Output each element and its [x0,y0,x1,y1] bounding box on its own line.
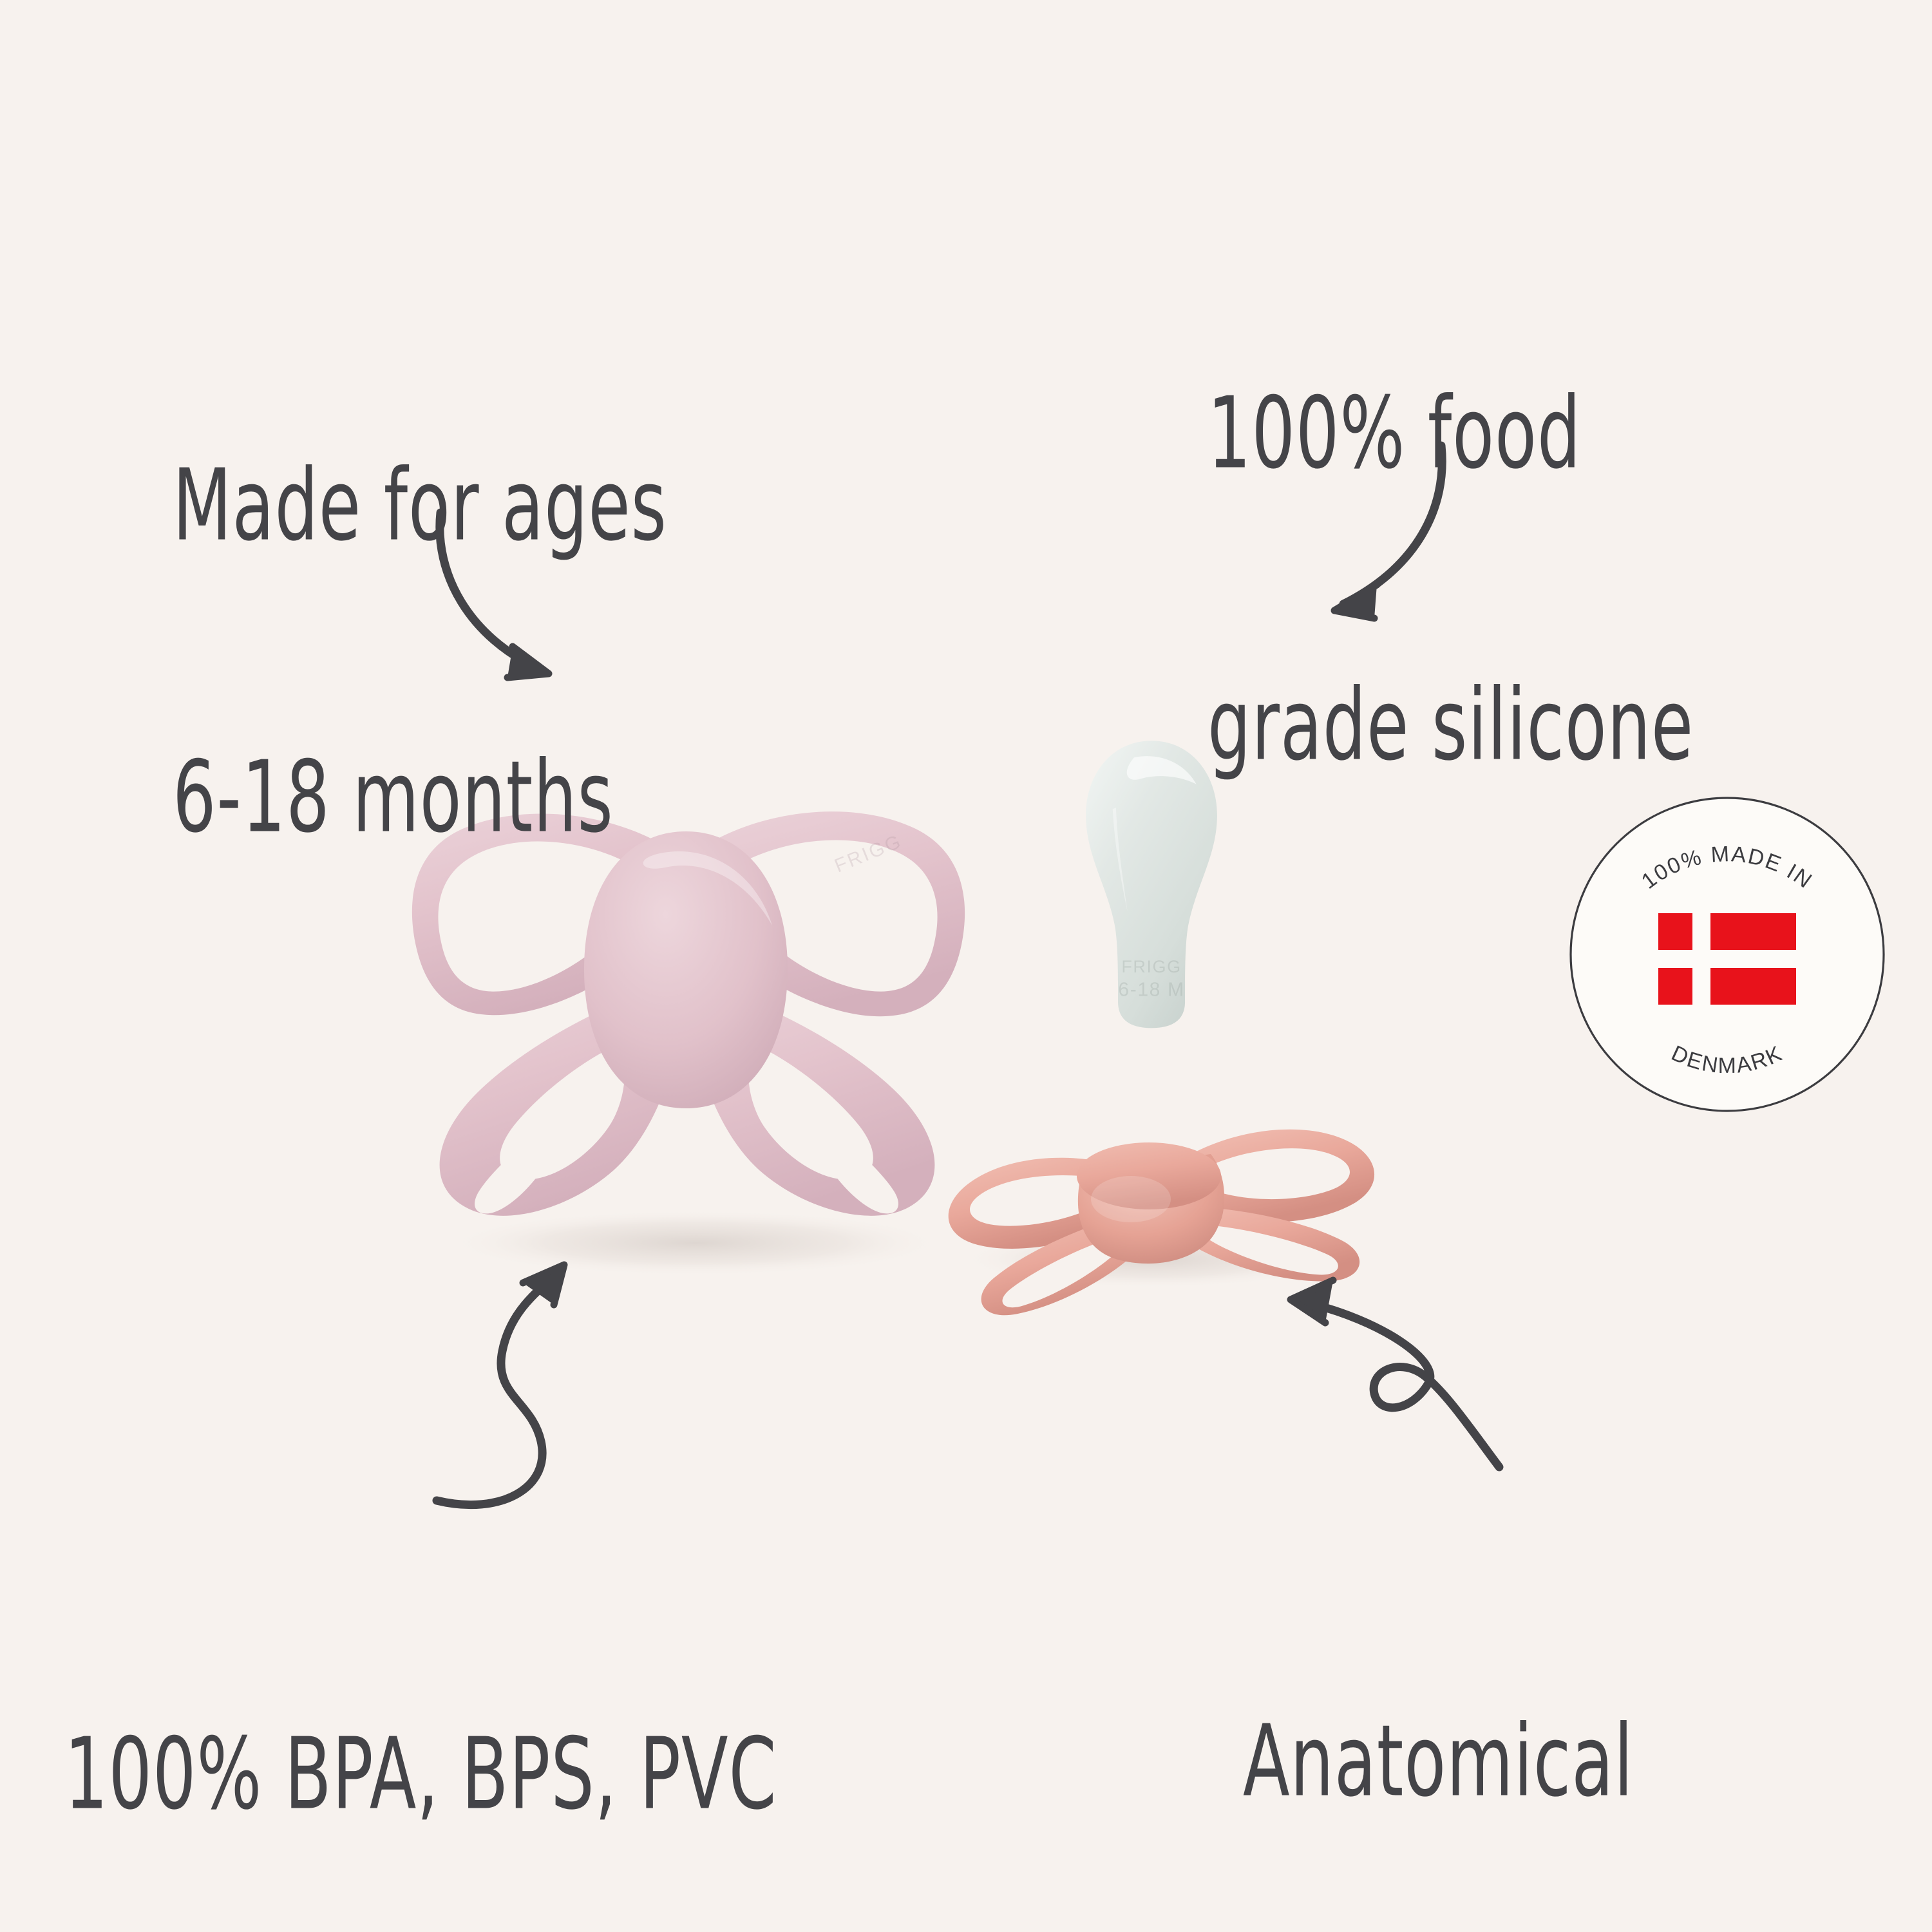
callout-nipple-line1: Anatomical [1243,1698,1689,1824]
arrow-to-shield-material [425,1243,644,1526]
callout-silicone-line2: grade silicone [1207,662,1694,788]
made-in-denmark-badge: 100% MADE IN DENMARK [1566,793,1888,1115]
coral-base-hilite [1091,1176,1171,1222]
danish-flag-icon [1658,913,1796,1005]
callout-anatomical-nipple: Anatomical nipple shape [1243,1533,1738,1932]
callout-ages-line2: 6-18 months [173,734,667,860]
callout-bpa-free: 100% BPA, BPS, PVC + Phthalates free [64,1546,856,1932]
arrow-to-pacifier-shield [386,477,657,734]
arrow-to-nipple-shape [1243,1262,1520,1520]
arrow-to-silicone-nipple [1307,425,1565,670]
silicone-nipple: FRIGG 6-18 M [1086,741,1217,1028]
infographic-canvas: FRIGG 6-18 M [0,0,1932,1932]
svg-text:FRIGG: FRIGG [1121,957,1181,976]
callout-bpa-line1: 100% BPA, BPS, PVC [64,1711,777,1837]
svg-text:6-18 M: 6-18 M [1118,979,1184,1000]
